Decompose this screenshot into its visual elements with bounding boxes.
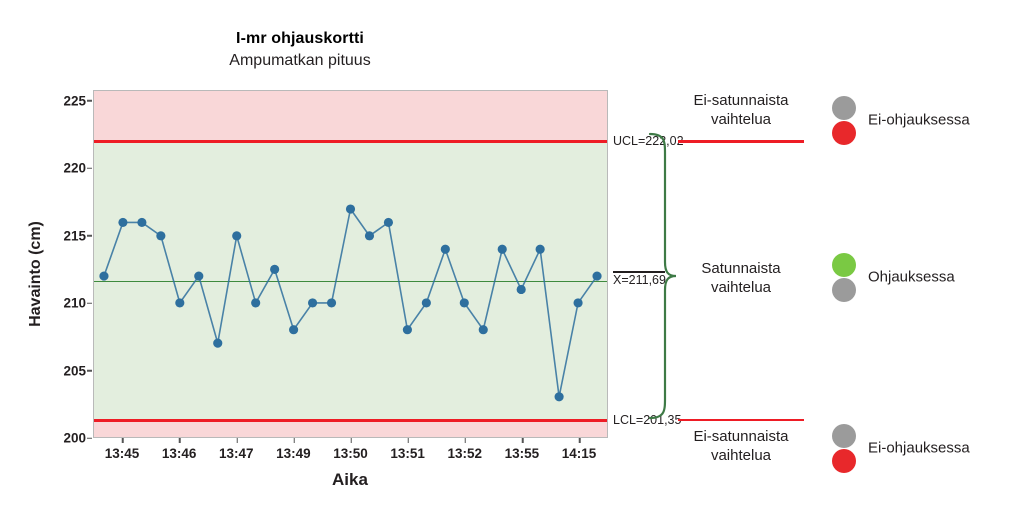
y-tick-label: 205 <box>26 363 86 378</box>
x-axis-label: Aika <box>85 470 615 490</box>
chart-subtitle: Ampumatkan pituus <box>0 52 600 70</box>
data-series <box>94 91 607 437</box>
plot-frame <box>93 90 608 438</box>
annotation-upper-line2: vaihtelua <box>711 111 771 128</box>
annotation-lower-line2: vaihtelua <box>711 447 771 464</box>
annotation-lower: Ei-satunnaista vaihtelua <box>676 428 806 466</box>
legend-status-dot-top <box>832 424 856 448</box>
annotation-lower-rule <box>678 419 804 422</box>
annotation-middle-line2: vaihtelua <box>711 279 771 296</box>
y-tick-label: 210 <box>26 296 86 311</box>
y-tick-label: 220 <box>26 161 86 176</box>
y-axis-label: Havainto (cm) <box>27 154 45 394</box>
x-tick-label: 13:49 <box>276 446 311 461</box>
legend-status-dot-bottom <box>832 121 856 145</box>
x-tick-label: 14:15 <box>562 446 597 461</box>
y-tick-label: 215 <box>26 228 86 243</box>
annotation-middle: Satunnaista vaihtelua <box>676 260 806 298</box>
x-tick-label: 13:50 <box>333 446 368 461</box>
x-tick-label: 13:51 <box>390 446 425 461</box>
annotation-upper-rule <box>678 140 804 143</box>
x-tick-label: 13:55 <box>505 446 540 461</box>
x-tick-label: 13:45 <box>105 446 140 461</box>
annotation-upper: Ei-satunnaista vaihtelua <box>676 92 806 130</box>
legend-label: Ei-ohjauksessa <box>868 112 970 129</box>
legend-status-dot-top <box>832 96 856 120</box>
variation-brace <box>648 132 678 420</box>
annotation-lower-line1: Ei-satunnaista <box>693 428 788 445</box>
plot-area: 200205210215220225 13:4513:4613:4713:491… <box>93 90 608 438</box>
y-tick-label: 200 <box>26 431 86 446</box>
x-tick-label: 13:46 <box>162 446 197 461</box>
legend-label: Ohjauksessa <box>868 269 955 286</box>
chart-title: I-mr ohjauskortti <box>0 30 600 48</box>
legend-status-dot-bottom <box>832 449 856 473</box>
legend-status-dot-bottom <box>832 278 856 302</box>
annotation-upper-line1: Ei-satunnaista <box>693 92 788 109</box>
y-tick-label: 225 <box>26 93 86 108</box>
x-tick-label: 13:47 <box>219 446 254 461</box>
x-tick-label: 13:52 <box>447 446 482 461</box>
legend-status-dot-top <box>832 253 856 277</box>
annotation-middle-line1: Satunnaista <box>701 260 780 277</box>
legend-label: Ei-ohjauksessa <box>868 440 970 457</box>
